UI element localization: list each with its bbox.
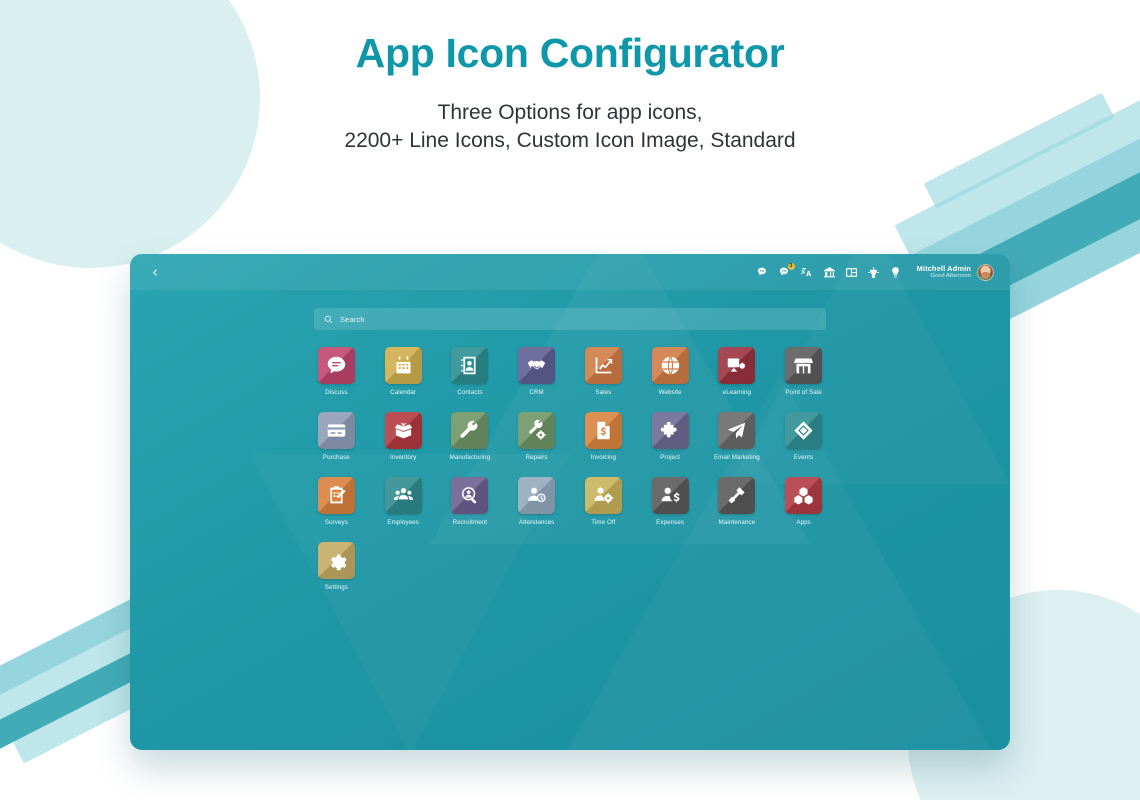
app-icon-project[interactable]: Project [637,412,704,461]
app-icon-elearning[interactable]: eLearning [704,347,771,396]
apps-grid-icon[interactable] [845,266,858,279]
help-tip-icon[interactable] [889,266,902,279]
app-label: CRM [529,389,543,396]
app-icon-attendances[interactable]: Attendances [503,477,570,526]
app-label: Sales [595,389,611,396]
user-greeting: Good Afternoon [917,273,971,279]
app-icon-calendar[interactable]: Calendar [370,347,437,396]
app-label: Contacts [457,389,482,396]
calendar-icon[interactable] [385,347,422,384]
hammer-icon[interactable] [718,477,755,514]
app-icon-purchase[interactable]: Purchase [303,412,370,461]
app-icon-email-marketing[interactable]: Email Marketing [704,412,771,461]
app-label: Repairs [526,454,548,461]
page-subtitle: Three Options for app icons, 2200+ Line … [0,99,1140,155]
user-name: Mitchell Admin [917,265,971,273]
app-label: Attendances [519,519,555,526]
app-label: Project [660,454,680,461]
topbar-systray: 3 Mitche [757,264,994,281]
ticket-icon[interactable] [785,412,822,449]
app-label: Point of Sale [785,389,821,396]
user-text: Mitchell Admin Good Afternoon [917,265,971,280]
app-icon-website[interactable]: Website [637,347,704,396]
app-icon-recruitment[interactable]: Recruitment [437,477,504,526]
subtitle-line-2: 2200+ Line Icons, Custom Icon Image, Sta… [0,127,1140,155]
blocks-icon[interactable] [785,477,822,514]
back-chevron-icon[interactable]: ‹ [152,265,158,280]
app-label: Surveys [325,519,348,526]
app-label: Maintenance [719,519,756,526]
storefront-icon[interactable] [785,347,822,384]
search-icon [324,315,333,324]
app-label: Inventory [390,454,416,461]
user-menu[interactable]: Mitchell Admin Good Afternoon [917,264,994,281]
app-label: eLearning [723,389,751,396]
chart-up-icon[interactable] [585,347,622,384]
people-group-icon[interactable] [385,477,422,514]
subtitle-line-1: Three Options for app icons, [0,99,1140,127]
app-icon-time-off[interactable]: Time Off [570,477,637,526]
search-area: Search [130,290,1010,330]
puzzle-icon[interactable] [652,412,689,449]
app-label: Email Marketing [714,454,760,461]
app-icon-contacts[interactable]: Contacts [437,347,504,396]
app-label: Events [794,454,814,461]
magnifier-person-icon[interactable] [451,477,488,514]
activities-icon[interactable]: 3 [779,266,792,279]
app-icon-invoicing[interactable]: Invoicing [570,412,637,461]
wrench-icon[interactable] [451,412,488,449]
app-label: Settings [325,584,348,591]
handshake-icon[interactable] [518,347,555,384]
globe-icon[interactable] [652,347,689,384]
app-label: Employees [387,519,419,526]
presentation-icon[interactable] [718,347,755,384]
app-icon-surveys[interactable]: Surveys [303,477,370,526]
app-icon-events[interactable]: Events [770,412,837,461]
app-icon-settings[interactable]: Settings [303,542,370,591]
window-topbar: ‹ 3 [130,254,1010,290]
promo-page: App Icon Configurator Three Options for … [0,0,1140,800]
app-icon-point-of-sale[interactable]: Point of Sale [770,347,837,396]
debug-bug-icon[interactable] [867,266,880,279]
app-icon-manufacturing[interactable]: Manufacturing [437,412,504,461]
app-label: Website [659,389,682,396]
avatar[interactable] [977,264,994,281]
person-gear-icon[interactable] [585,477,622,514]
app-label: Recruitment [453,519,487,526]
app-icon-sales[interactable]: Sales [570,347,637,396]
open-box-icon[interactable] [385,412,422,449]
invoice-doc-icon[interactable] [585,412,622,449]
app-icon-expenses[interactable]: Expenses [637,477,704,526]
clipboard-pen-icon[interactable] [318,477,355,514]
app-label: Calendar [390,389,416,396]
app-icon-employees[interactable]: Employees [370,477,437,526]
app-icon-crm[interactable]: CRM [503,347,570,396]
paper-plane-icon[interactable] [718,412,755,449]
app-label: Apps [796,519,811,526]
app-icon-discuss[interactable]: Discuss [303,347,370,396]
app-label: Invoicing [591,454,616,461]
app-label: Expenses [656,519,684,526]
page-title: App Icon Configurator [0,30,1140,77]
app-label: Time Off [591,519,615,526]
app-grid: DiscussCalendarContactsCRMSalesWebsiteeL… [303,347,837,591]
promo-header: App Icon Configurator Three Options for … [0,0,1140,155]
app-icon-apps[interactable]: Apps [770,477,837,526]
wrench-gear-icon[interactable] [518,412,555,449]
company-icon[interactable] [823,266,836,279]
chat-bubble-icon[interactable] [318,347,355,384]
credit-card-icon[interactable] [318,412,355,449]
app-label: Manufacturing [450,454,491,461]
messages-icon[interactable] [757,266,770,279]
gear-icon[interactable] [318,542,355,579]
activities-badge: 3 [788,263,795,270]
app-window: ‹ 3 [130,254,1010,750]
app-label: Discuss [325,389,347,396]
search-placeholder: Search [340,315,365,324]
app-icon-maintenance[interactable]: Maintenance [704,477,771,526]
person-clock-icon[interactable] [518,477,555,514]
contact-card-icon[interactable] [451,347,488,384]
search-input[interactable]: Search [314,308,826,330]
translate-icon[interactable] [801,266,814,279]
person-money-icon[interactable] [652,477,689,514]
app-label: Purchase [323,454,350,461]
app-icon-repairs[interactable]: Repairs [503,412,570,461]
app-icon-inventory[interactable]: Inventory [370,412,437,461]
